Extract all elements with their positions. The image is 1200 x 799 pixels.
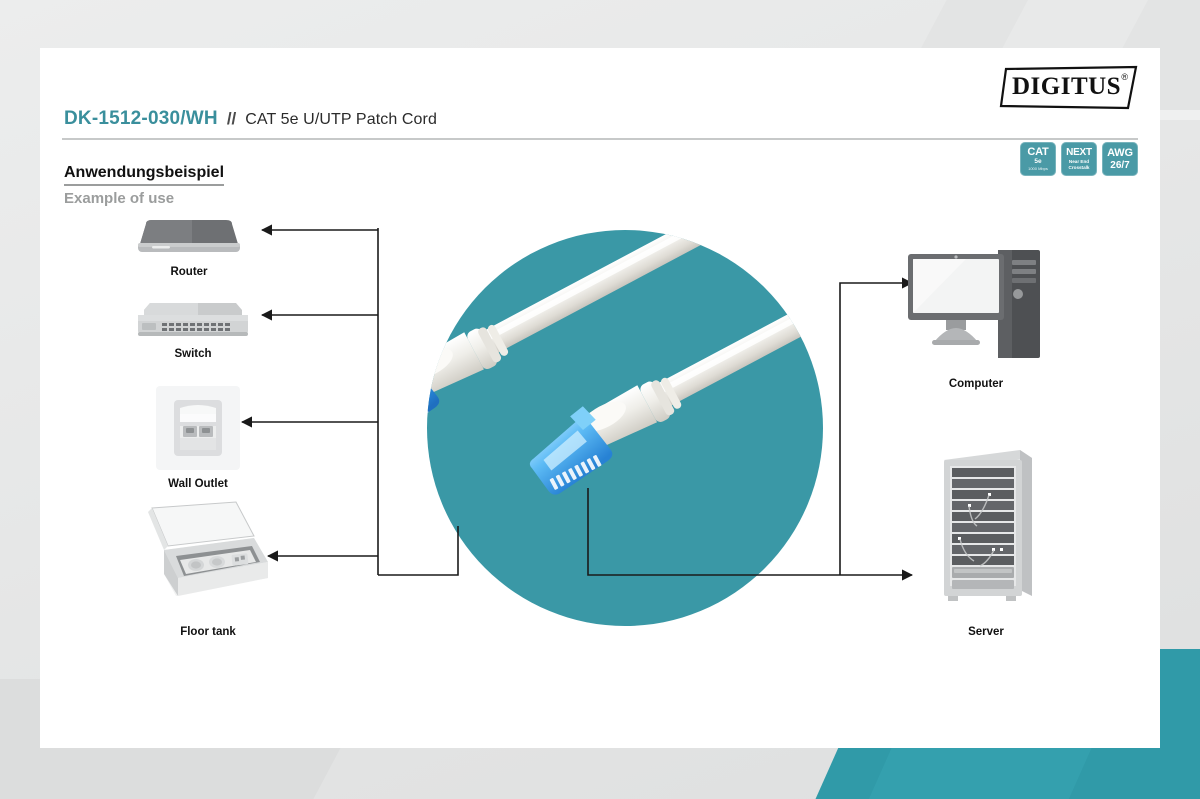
router-icon — [134, 218, 244, 260]
floor-tank-icon — [128, 500, 278, 620]
arrow-to-computer — [840, 283, 912, 575]
wall-outlet-icon — [156, 386, 240, 470]
arrow-feed-left — [378, 526, 458, 575]
computer-icon — [906, 246, 1046, 362]
wall-outlet-label: Wall Outlet — [146, 478, 250, 490]
arrow-feed-right — [588, 488, 840, 575]
switch-icon — [134, 300, 252, 342]
router-label: Router — [134, 266, 244, 278]
usage-diagram: Router Switch — [40, 48, 1160, 748]
server-label: Server — [930, 626, 1042, 638]
computer-label: Computer — [920, 378, 1032, 390]
floor-tank-label: Floor tank — [150, 626, 266, 638]
server-bays — [952, 468, 1014, 565]
content-card: DIGITUS ® DK-1512-030/WH // CAT 5e U/UTP… — [40, 48, 1160, 748]
server-icon — [934, 448, 1038, 608]
switch-label: Switch — [134, 348, 252, 360]
